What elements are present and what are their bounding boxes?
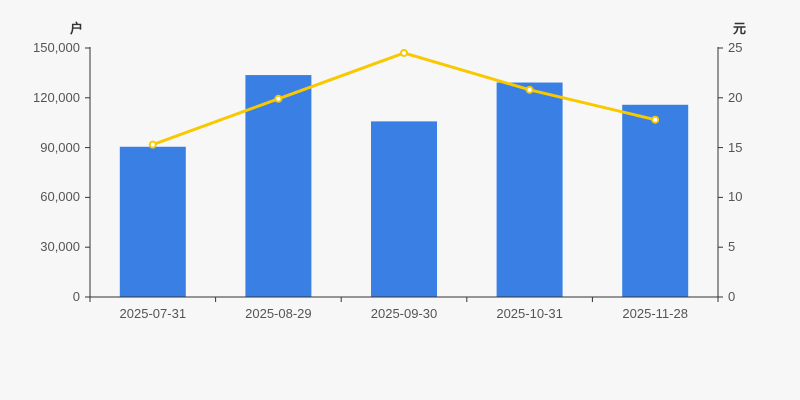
x-axis-tick-label: 2025-09-30 (334, 307, 474, 320)
x-axis-tick-labels: 2025-07-312025-08-292025-09-302025-10-31… (0, 0, 800, 400)
chart-container: 户 元 030,00060,00090,000120,000150,000 05… (0, 0, 800, 400)
x-axis-tick-label: 2025-07-31 (83, 307, 223, 320)
x-axis-tick-label: 2025-11-28 (585, 307, 725, 320)
x-axis-tick-label: 2025-10-31 (460, 307, 600, 320)
x-axis-tick-label: 2025-08-29 (208, 307, 348, 320)
